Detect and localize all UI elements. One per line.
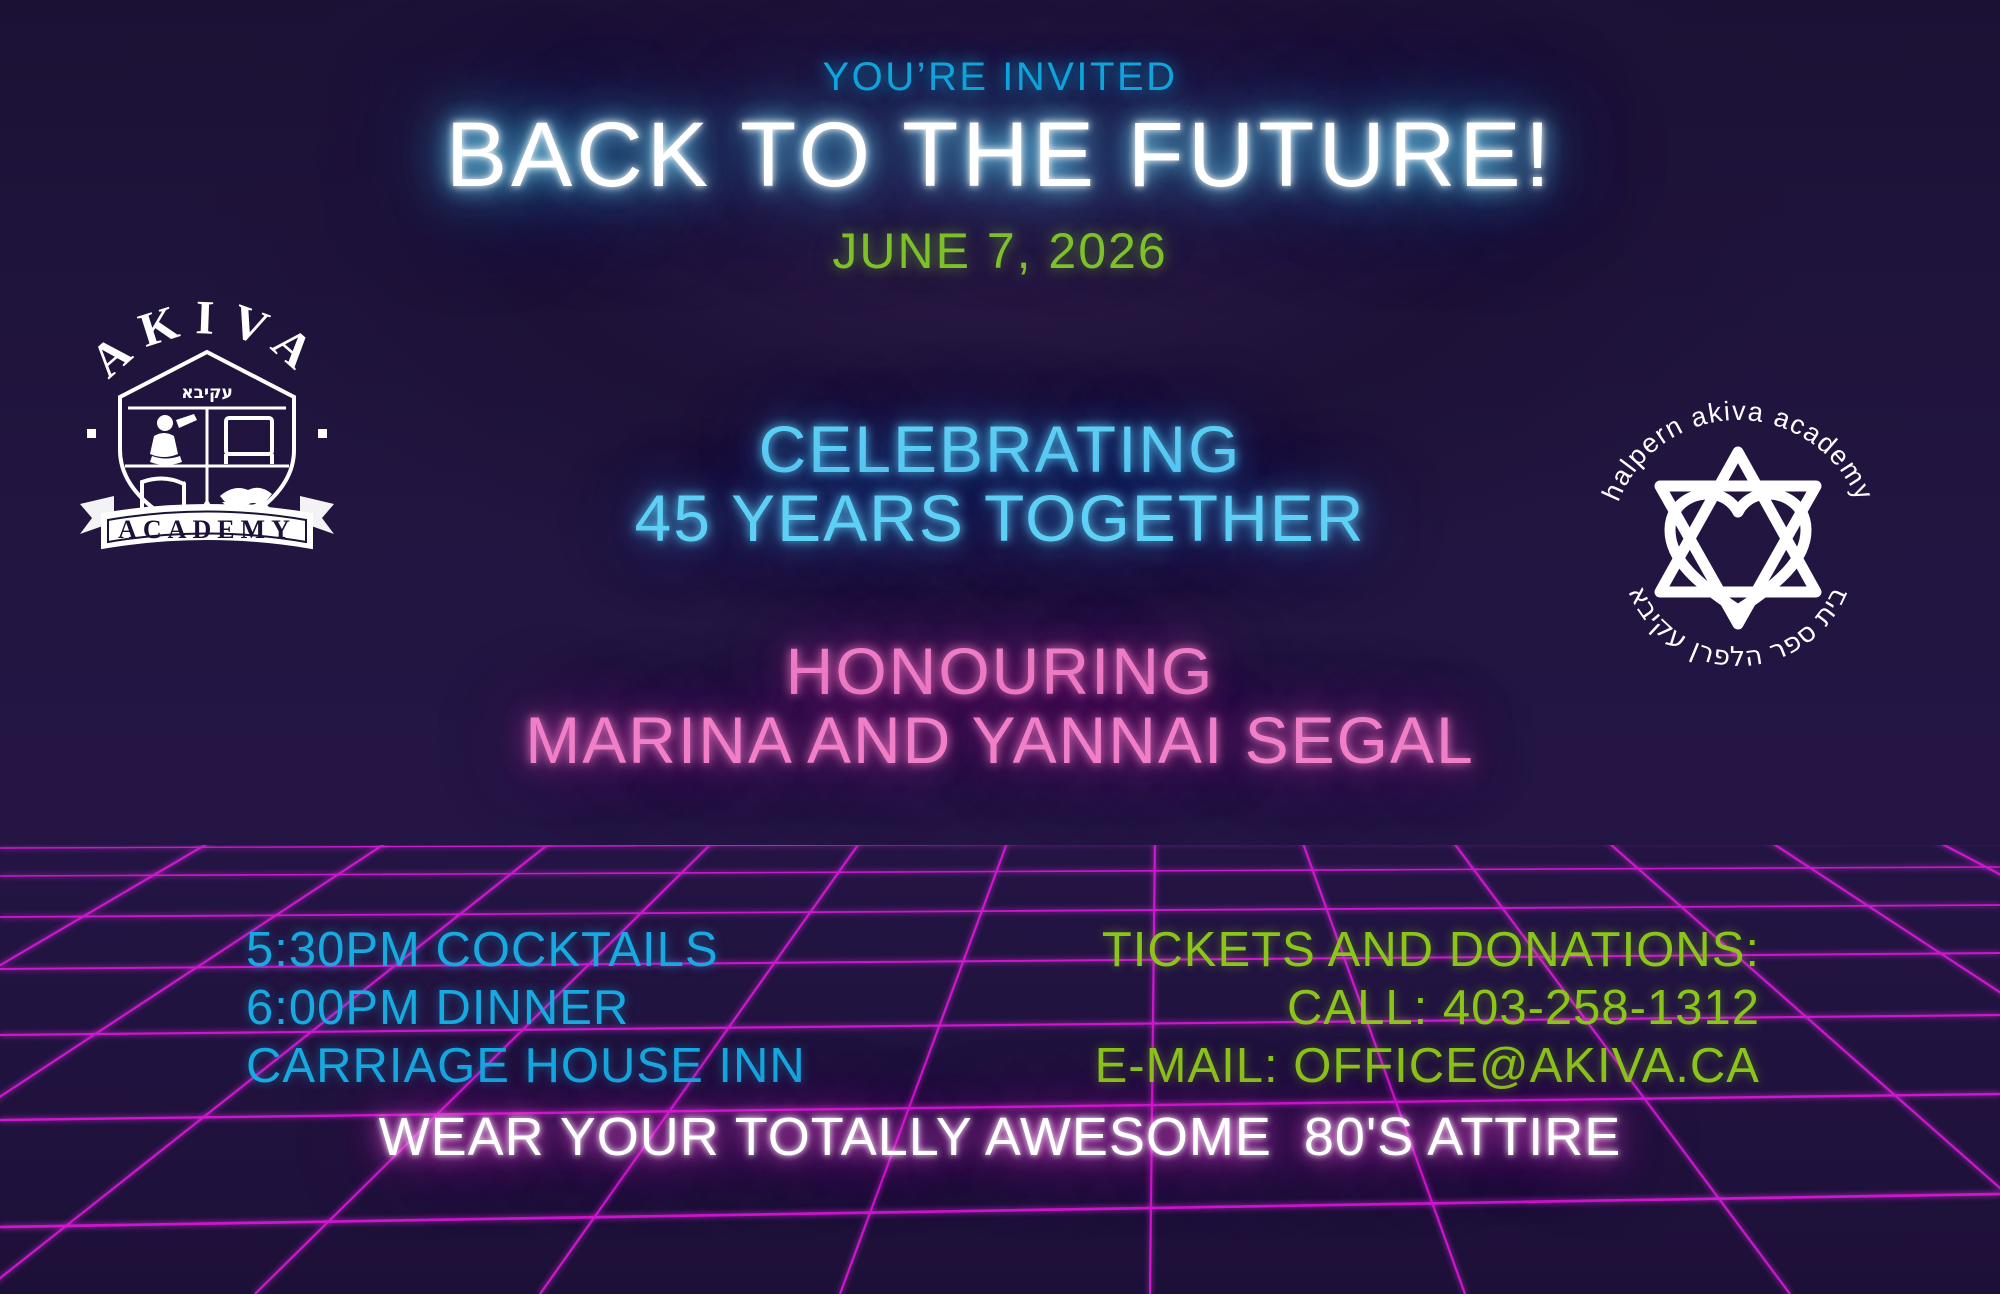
contact-block: TICKETS AND DONATIONS: CALL: 403-258-131…: [1095, 922, 1760, 1095]
round-logo-heart-star-emblem: [1660, 452, 1816, 624]
halpern-akiva-academy-round-logo: halpern akiva academy בית ספר הלפרן עקיב…: [1578, 378, 1898, 698]
eyebrow-text: YOU’RE INVITED: [0, 55, 2000, 100]
akiva-academy-crest-logo: AKIVA עקיבא: [62, 290, 352, 570]
crest-banner-text: ACADEMY: [118, 515, 296, 544]
crest-icon-student-reading: [150, 414, 197, 465]
round-logo-svg: halpern akiva academy בית ספר הלפרן עקיב…: [1578, 378, 1898, 698]
page-title: BACK TO THE FUTURE!: [0, 103, 2000, 208]
crest-svg: AKIVA עקיבא: [62, 290, 352, 570]
crest-arc-text: AKIVA: [81, 291, 334, 388]
contact-email: E-MAIL: OFFICE@AKIVA.CA: [1095, 1038, 1760, 1096]
contact-heading: TICKETS AND DONATIONS:: [1095, 922, 1760, 980]
schedule-dinner: 6:00PM DINNER: [246, 980, 806, 1038]
honouring-line-2: MARINA AND YANNAI SEGAL: [0, 706, 2000, 775]
event-date: JUNE 7, 2026: [0, 222, 2000, 280]
schedule-cocktails: 5:30PM COCKTAILS: [246, 922, 806, 980]
schedule-block: 5:30PM COCKTAILS 6:00PM DINNER CARRIAGE …: [246, 922, 806, 1095]
contact-phone: CALL: 403-258-1312: [1095, 980, 1760, 1038]
crest-dot-left: [87, 429, 96, 438]
crest-icon-window: [226, 418, 272, 464]
crest-hebrew-text: עקיבא: [181, 383, 233, 403]
attire-note: WEAR YOUR TOTALLY AWESOME 80'S ATTIRE: [0, 1106, 2000, 1168]
invitation-poster: YOU’RE INVITED BACK TO THE FUTURE! JUNE …: [0, 0, 2000, 1294]
schedule-venue: CARRIAGE HOUSE INN: [246, 1038, 806, 1096]
crest-dot-right: [318, 429, 327, 438]
